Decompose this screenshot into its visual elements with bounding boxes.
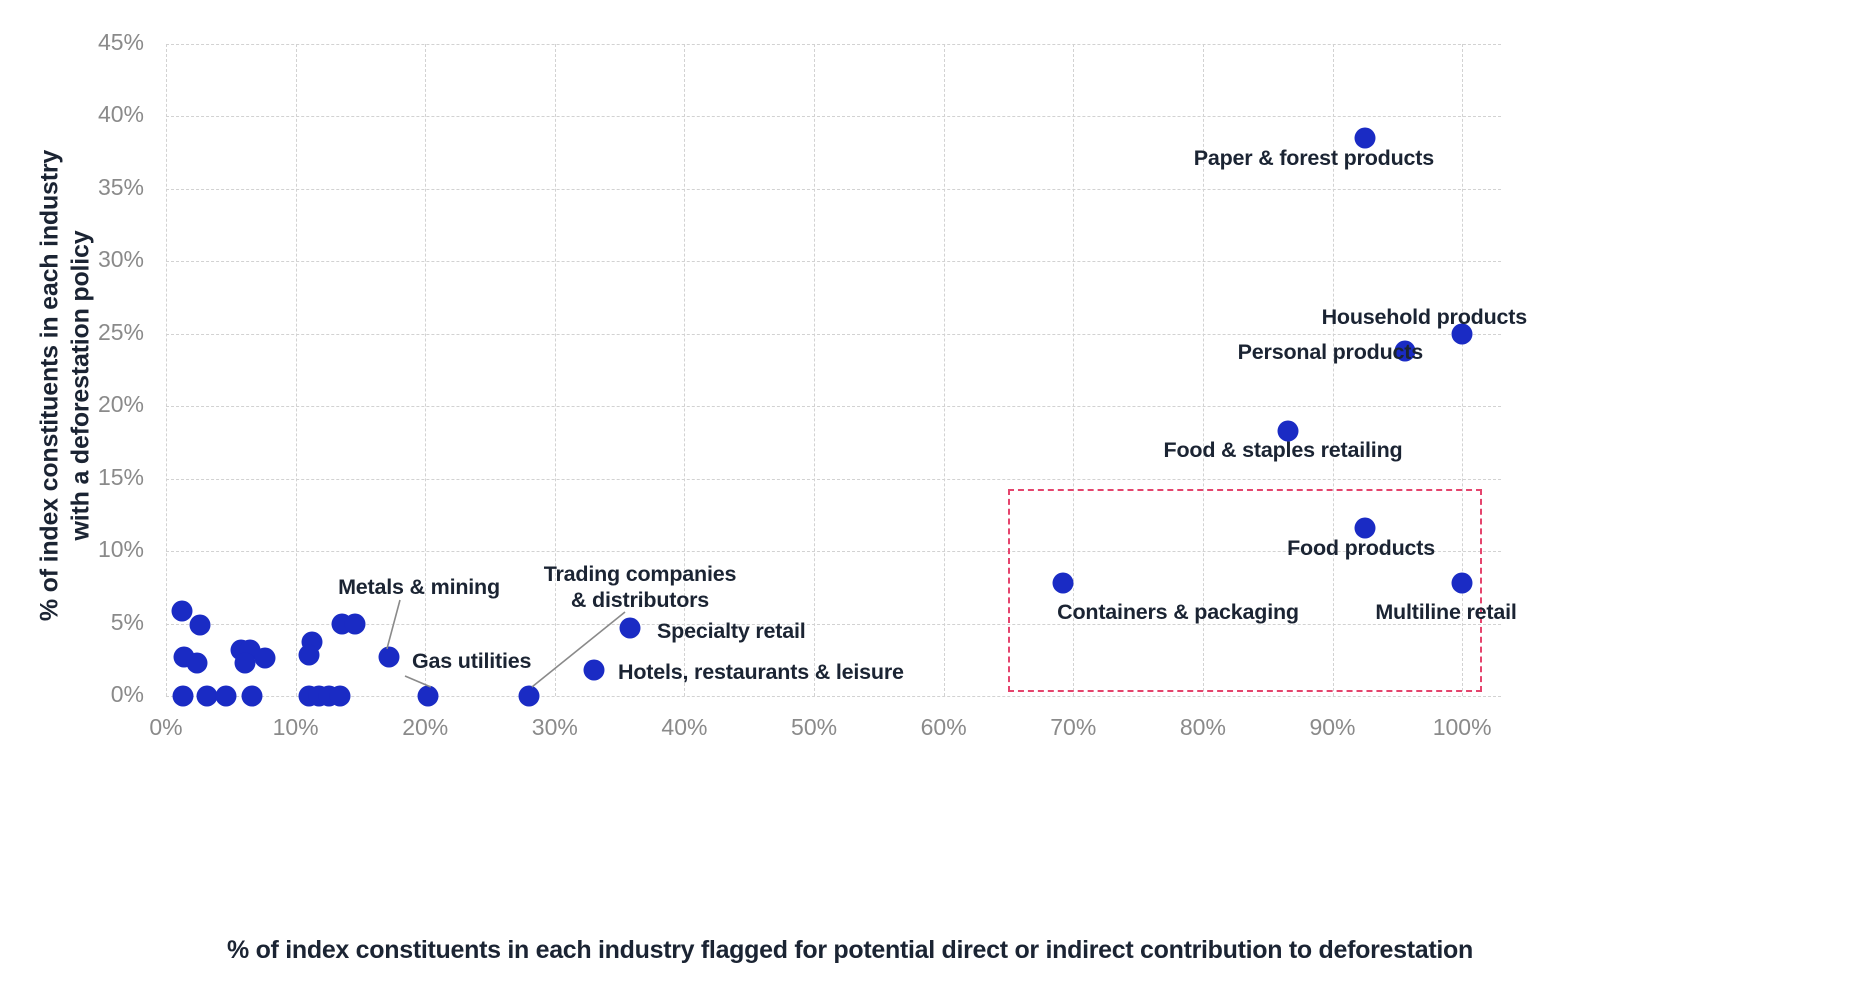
data-point-15[interactable] xyxy=(345,613,366,634)
x-tick-label-100%: 100% xyxy=(1433,714,1492,741)
data-point-17[interactable] xyxy=(187,652,208,673)
point-label-food-products: Food products xyxy=(1287,536,1435,561)
x-tick-label-80%: 80% xyxy=(1180,714,1226,741)
point-label-hotels: Hotels, restaurants & leisure xyxy=(618,660,904,685)
point-label-containers: Containers & packaging xyxy=(1057,600,1299,625)
data-point-multiline-retail[interactable] xyxy=(1452,572,1473,593)
data-point-gas-utilities[interactable] xyxy=(417,686,438,707)
y-tick-label-40%: 40% xyxy=(0,101,144,128)
x-tick-label-10%: 10% xyxy=(273,714,319,741)
data-point-13[interactable] xyxy=(189,615,210,636)
data-point-23[interactable] xyxy=(298,645,319,666)
point-label-trading1: Trading companies xyxy=(544,562,737,587)
data-point-specialty-retail[interactable] xyxy=(620,617,641,638)
highlight-box xyxy=(1008,489,1481,692)
gridline-y-20% xyxy=(166,406,1501,407)
data-point-containers-packaging[interactable] xyxy=(1052,572,1073,593)
gridline-y-15% xyxy=(166,479,1501,480)
x-tick-label-20%: 20% xyxy=(402,714,448,741)
y-tick-label-10%: 10% xyxy=(0,536,144,563)
y-tick-label-25%: 25% xyxy=(0,319,144,346)
x-tick-label-50%: 50% xyxy=(791,714,837,741)
x-tick-label-70%: 70% xyxy=(1050,714,1096,741)
y-tick-label-0%: 0% xyxy=(0,681,144,708)
y-tick-label-5%: 5% xyxy=(0,609,144,636)
gridline-x-60% xyxy=(944,44,945,696)
point-label-personal: Personal products xyxy=(1238,340,1423,365)
x-tick-label-30%: 30% xyxy=(532,714,578,741)
gridline-y-0% xyxy=(166,696,1501,697)
gridline-y-35% xyxy=(166,189,1501,190)
point-label-specialty: Specialty retail xyxy=(657,619,806,644)
data-point-metals-mining[interactable] xyxy=(378,646,399,667)
y-tick-label-20%: 20% xyxy=(0,391,144,418)
data-point-hotels-restaurants-leisure[interactable] xyxy=(583,659,604,680)
data-point-20[interactable] xyxy=(235,652,256,673)
point-label-household: Household products xyxy=(1322,305,1527,330)
gridline-x-0% xyxy=(166,44,167,696)
x-tick-label-40%: 40% xyxy=(661,714,707,741)
data-point-trading-companies-distributors[interactable] xyxy=(518,686,539,707)
y-tick-label-35%: 35% xyxy=(0,174,144,201)
point-label-metals: Metals & mining xyxy=(338,575,500,600)
y-tick-label-15%: 15% xyxy=(0,464,144,491)
gridline-y-40% xyxy=(166,116,1501,117)
point-label-multiline: Multiline retail xyxy=(1375,600,1516,625)
gridline-x-50% xyxy=(814,44,815,696)
y-tick-label-45%: 45% xyxy=(0,29,144,56)
data-point-31[interactable] xyxy=(329,686,350,707)
x-tick-label-0%: 0% xyxy=(149,714,182,741)
gridline-y-30% xyxy=(166,261,1501,262)
y-tick-label-30%: 30% xyxy=(0,246,144,273)
gridline-y-25% xyxy=(166,334,1501,335)
x-axis-title: % of index constituents in each industry… xyxy=(0,936,1700,965)
x-tick-label-60%: 60% xyxy=(921,714,967,741)
data-point-12[interactable] xyxy=(171,600,192,621)
chart-canvas: % of index constituents in each industry… xyxy=(0,0,1870,989)
data-point-27[interactable] xyxy=(241,686,262,707)
x-tick-label-90%: 90% xyxy=(1309,714,1355,741)
data-point-26[interactable] xyxy=(215,686,236,707)
gridline-y-45% xyxy=(166,44,1501,45)
point-label-paper-forest: Paper & forest products xyxy=(1194,146,1434,171)
point-label-gas: Gas utilities xyxy=(412,649,531,674)
gridline-x-10% xyxy=(296,44,297,696)
data-point-24[interactable] xyxy=(172,686,193,707)
data-point-21[interactable] xyxy=(254,648,275,669)
point-label-food-staples: Food & staples retailing xyxy=(1164,438,1403,463)
gridline-x-30% xyxy=(555,44,556,696)
point-label-trading2: & distributors xyxy=(571,588,709,613)
